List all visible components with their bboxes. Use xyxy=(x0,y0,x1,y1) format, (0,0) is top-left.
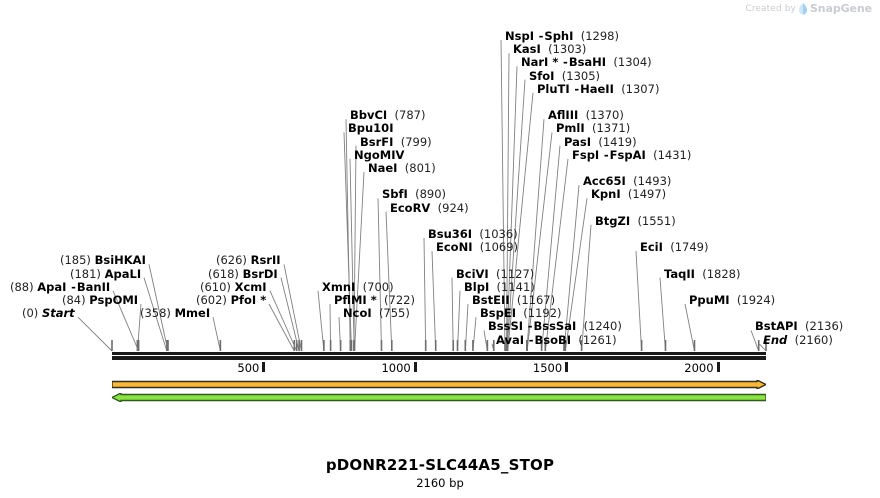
enzyme-name: PfoI xyxy=(231,293,257,307)
enzyme-position: (2160) xyxy=(795,333,833,347)
ruler-label: 500 xyxy=(237,361,262,375)
enzyme-name: Bpu10I xyxy=(348,121,393,135)
enzyme-name: MmeI xyxy=(175,306,211,320)
enzyme-position: (801) xyxy=(405,161,436,175)
ruler-label: 1000 xyxy=(381,361,413,375)
enzyme-position: (1304) xyxy=(613,55,651,69)
enzyme-label-kpni[interactable]: KpnI (1497) xyxy=(591,188,666,201)
enzyme-name: EcoRV xyxy=(390,201,430,215)
enzyme-label-bsu36i[interactable]: Bsu36I (1036) xyxy=(428,228,518,241)
enzyme-name: NcoI xyxy=(343,306,372,320)
enzyme-name: BciVI xyxy=(456,267,489,281)
enzyme-label-mmei[interactable]: (358) MmeI xyxy=(140,307,210,320)
enzyme-label-pfoi[interactable]: (602) PfoI * xyxy=(196,294,266,307)
enzyme-label-blpi[interactable]: BlpI (1141) xyxy=(464,281,535,294)
enzyme-position: (1551) xyxy=(637,214,675,228)
enzyme-name: BssSaI xyxy=(533,319,576,333)
enzyme-label-end[interactable]: End (2160) xyxy=(763,334,833,347)
enzyme-label-sbfi[interactable]: SbfI (890) xyxy=(382,188,446,201)
enzyme-position: (0) xyxy=(22,306,38,320)
enzyme-label-ppumi[interactable]: PpuMI (1924) xyxy=(689,294,775,307)
enzyme-label-bstapi[interactable]: BstAPI (2136) xyxy=(755,320,843,333)
plasmid-length: 2160 bp xyxy=(0,476,880,490)
page-title: pDONR221-SLC44A5_STOP xyxy=(0,456,880,474)
enzyme-name: NarI xyxy=(521,55,548,69)
enzyme-name: KasI xyxy=(513,42,541,56)
enzyme-name: PluTI xyxy=(537,82,570,96)
enzyme-position: (787) xyxy=(395,108,426,122)
enzyme-name: FspI xyxy=(572,148,599,162)
enzyme-position: (1307) xyxy=(621,82,659,96)
plasmid-map: Created by SnapGene (0) Start(84) PspOMI… xyxy=(0,0,880,498)
enzyme-position: (1493) xyxy=(633,174,671,188)
enzyme-position: (722) xyxy=(384,293,415,307)
enzyme-name: SphI xyxy=(544,29,573,43)
enzyme-position: (1419) xyxy=(598,135,636,149)
axis-line-bottom xyxy=(112,356,766,360)
enzyme-name: EcoNI xyxy=(436,240,472,254)
ruler-tick xyxy=(565,362,568,372)
enzyme-label-nari[interactable]: NarI * -BsaHI (1304) xyxy=(521,56,652,69)
enzyme-name: BsoBI xyxy=(534,333,571,347)
enzyme-position: (1167) xyxy=(517,293,555,307)
enzyme-name: SfoI xyxy=(529,69,554,83)
enzyme-position: (1371) xyxy=(592,121,630,135)
enzyme-name: FspAI xyxy=(610,148,646,162)
ruler-label: 1500 xyxy=(533,361,565,375)
enzyme-position: (890) xyxy=(415,187,446,201)
enzyme-label-econi[interactable]: EcoNI (1069) xyxy=(436,241,518,254)
enzyme-position: (1497) xyxy=(628,187,666,201)
enzyme-name: BlpI xyxy=(464,280,489,294)
enzyme-label-ngomiv[interactable]: NgoMIV xyxy=(354,149,404,162)
enzyme-name: BanII xyxy=(77,280,110,294)
enzyme-label-taqii[interactable]: TaqII (1828) xyxy=(664,268,740,281)
orange-feature-shape xyxy=(112,380,766,389)
enzyme-position: (924) xyxy=(438,201,469,215)
enzyme-position: (1261) xyxy=(578,333,616,347)
enzyme-name: ApaLI xyxy=(105,267,142,281)
enzyme-name: Start xyxy=(42,306,75,320)
enzyme-position: (700) xyxy=(363,280,394,294)
enzyme-label-ncoi[interactable]: NcoI (755) xyxy=(343,307,410,320)
enzyme-name: XcmI xyxy=(235,280,267,294)
ruler-tick xyxy=(717,362,720,372)
ruler-tick xyxy=(262,362,265,372)
enzyme-label-bbvci[interactable]: BbvCI (787) xyxy=(350,109,425,122)
enzyme-name: BbvCI xyxy=(350,108,387,122)
enzyme-label-pmli[interactable]: PmlI (1371) xyxy=(556,122,630,135)
enzyme-name: BspEI xyxy=(480,306,516,320)
enzyme-name: PpuMI xyxy=(689,293,730,307)
enzyme-position: (1192) xyxy=(523,306,561,320)
enzyme-name: PspOMI xyxy=(89,293,138,307)
enzyme-label-naei[interactable]: NaeI (801) xyxy=(368,162,436,175)
green-feature-shape xyxy=(112,393,766,402)
enzyme-name: BstAPI xyxy=(755,319,798,333)
enzyme-label-rsrii[interactable]: (626) RsrII xyxy=(216,254,281,267)
enzyme-position: (1749) xyxy=(670,240,708,254)
enzyme-name: End xyxy=(763,333,787,347)
enzyme-name: BsiHKAI xyxy=(95,253,146,267)
enzyme-position: (358) xyxy=(140,306,171,320)
ruler-label: 2000 xyxy=(684,361,716,375)
enzyme-label-acc65i[interactable]: Acc65I (1493) xyxy=(583,175,671,188)
enzyme-position: (185) xyxy=(60,253,91,267)
enzyme-position: (618) xyxy=(208,267,239,281)
feature-track-green[interactable] xyxy=(112,393,766,402)
enzyme-label-fspi[interactable]: FspI -FspAI (1431) xyxy=(572,149,691,162)
enzyme-position: (755) xyxy=(379,306,410,320)
sequence-axis: 500100015002000 xyxy=(0,352,880,374)
enzyme-name: NgoMIV xyxy=(354,148,404,162)
enzyme-position: (1141) xyxy=(497,280,535,294)
enzyme-position: (88) xyxy=(10,280,34,294)
name-separator: - xyxy=(70,280,77,294)
enzyme-name: BsrFI xyxy=(360,135,393,149)
enzyme-position: (1431) xyxy=(653,148,691,162)
enzyme-label-pspomi[interactable]: (84) PspOMI xyxy=(62,294,138,307)
enzyme-label-bspei[interactable]: BspEI (1192) xyxy=(480,307,562,320)
enzyme-name: PflMI xyxy=(334,293,367,307)
enzyme-position: (1069) xyxy=(480,240,518,254)
enzyme-name: AvaI xyxy=(496,333,524,347)
enzyme-label-nspi[interactable]: NspI -SphI (1298) xyxy=(505,30,619,43)
enzyme-name: EciI xyxy=(640,240,663,254)
enzyme-name: Acc65I xyxy=(583,174,626,188)
enzyme-name: ApaI xyxy=(37,280,66,294)
enzyme-position: (626) xyxy=(216,253,247,267)
enzyme-label-btgzi[interactable]: BtgZI (1551) xyxy=(595,215,676,228)
enzyme-position: (1305) xyxy=(562,69,600,83)
enzyme-name: BstEII xyxy=(472,293,510,307)
axis-line-top xyxy=(112,352,766,355)
enzyme-position: (1828) xyxy=(702,267,740,281)
enzyme-label-apali[interactable]: (181) ApaLI xyxy=(70,268,141,281)
enzyme-label-pasi[interactable]: PasI (1419) xyxy=(564,136,637,149)
enzyme-name: NspI xyxy=(505,29,534,43)
enzyme-position: (1370) xyxy=(586,108,624,122)
feature-track-orange[interactable] xyxy=(112,380,766,389)
enzyme-position: (799) xyxy=(401,135,432,149)
enzyme-label-bsihkai[interactable]: (185) BsiHKAI xyxy=(60,254,146,267)
enzyme-label-ecii[interactable]: EciI (1749) xyxy=(640,241,708,254)
enzyme-label-avai[interactable]: AvaI -BsoBI (1261) xyxy=(496,334,617,347)
enzyme-name: TaqII xyxy=(664,267,695,281)
enzyme-label-bpu10i[interactable]: Bpu10I xyxy=(348,122,393,135)
enzyme-position: (2136) xyxy=(805,319,843,333)
enzyme-label-bsrdi[interactable]: (618) BsrDI xyxy=(208,268,278,281)
enzyme-label-stack: (0) Start(84) PspOMI(88) ApaI -BanII(181… xyxy=(0,0,880,345)
enzyme-name: KpnI xyxy=(591,187,621,201)
enzyme-label-kasi[interactable]: KasI (1303) xyxy=(513,43,586,56)
enzyme-label-bcivi[interactable]: BciVI (1127) xyxy=(456,268,534,281)
enzyme-position: (610) xyxy=(200,280,231,294)
enzyme-label-bsrfi[interactable]: BsrFI (799) xyxy=(360,136,432,149)
name-separator: - xyxy=(562,55,569,69)
enzyme-name: NaeI xyxy=(368,161,397,175)
enzyme-name: BsaHI xyxy=(569,55,606,69)
enzyme-name: PmlI xyxy=(556,121,585,135)
enzyme-name: PasI xyxy=(564,135,591,149)
enzyme-position: (1924) xyxy=(737,293,775,307)
enzyme-name: BsrDI xyxy=(243,267,278,281)
enzyme-label-pluti[interactable]: PluTI -HaeII (1307) xyxy=(537,83,659,96)
star-annotation: * xyxy=(548,55,558,69)
enzyme-position: (181) xyxy=(70,267,101,281)
enzyme-position: (1240) xyxy=(584,319,622,333)
enzyme-name: BssSI xyxy=(488,319,523,333)
enzyme-label-start[interactable]: (0) Start xyxy=(22,307,75,320)
ruler-tick xyxy=(414,362,417,372)
enzyme-position: (1127) xyxy=(496,267,534,281)
enzyme-label-apai[interactable]: (88) ApaI -BanII xyxy=(10,281,110,294)
enzyme-position: (1298) xyxy=(581,29,619,43)
ruler-ticks: 500100015002000 xyxy=(0,361,880,375)
enzyme-label-afliii[interactable]: AflIII (1370) xyxy=(548,109,624,122)
enzyme-label-ecorv[interactable]: EcoRV (924) xyxy=(390,202,469,215)
enzyme-label-pflmi[interactable]: PflMI * (722) xyxy=(334,294,415,307)
enzyme-label-xmni[interactable]: XmnI (700) xyxy=(322,281,394,294)
enzyme-name: Bsu36I xyxy=(428,227,472,241)
enzyme-position: (84) xyxy=(62,293,86,307)
enzyme-position: (602) xyxy=(196,293,227,307)
enzyme-name: HaeII xyxy=(580,82,614,96)
enzyme-name: BtgZI xyxy=(595,214,630,228)
enzyme-label-xcmi[interactable]: (610) XcmI xyxy=(200,281,267,294)
enzyme-name: XmnI xyxy=(322,280,355,294)
enzyme-name: SbfI xyxy=(382,187,408,201)
enzyme-position: (1036) xyxy=(479,227,517,241)
enzyme-label-sfoi[interactable]: SfoI (1305) xyxy=(529,70,600,83)
enzyme-label-bsteii[interactable]: BstEII (1167) xyxy=(472,294,555,307)
enzyme-position: (1303) xyxy=(548,42,586,56)
star-annotation: * xyxy=(256,293,266,307)
enzyme-name: RsrII xyxy=(251,253,281,267)
star-annotation: * xyxy=(367,293,377,307)
name-separator: - xyxy=(603,148,610,162)
enzyme-name: AflIII xyxy=(548,108,578,122)
enzyme-label-bsssi[interactable]: BssSI -BssSaI (1240) xyxy=(488,320,622,333)
